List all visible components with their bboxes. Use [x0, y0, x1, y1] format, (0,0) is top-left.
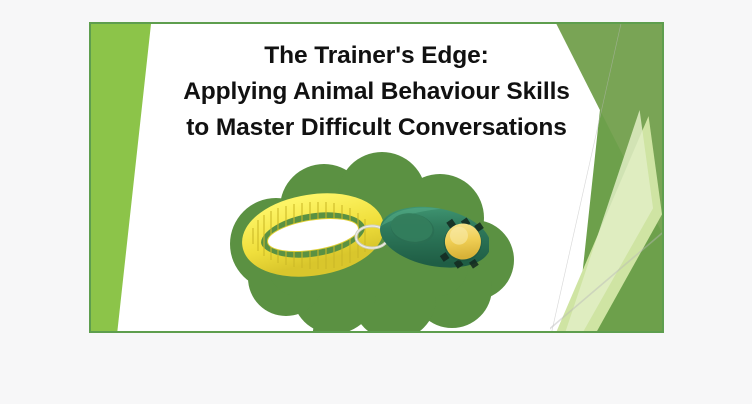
right-hairline-diagonal-lower-decoration	[550, 190, 662, 331]
screenshot-canvas: The Trainer's Edge: Applying Animal Beha…	[0, 0, 752, 404]
presentation-slide: The Trainer's Edge: Applying Animal Beha…	[89, 22, 664, 333]
slide-title-line-3: to Master Difficult Conversations	[91, 110, 662, 146]
dog-training-clicker-artwork	[239, 188, 489, 288]
yellow-coil-wristband	[247, 195, 379, 276]
slide-title-line-1: The Trainer's Edge:	[91, 38, 662, 74]
clicker-body	[375, 198, 489, 276]
slide-title-line-2: Applying Animal Behaviour Skills	[91, 74, 662, 110]
slide-title: The Trainer's Edge: Applying Animal Beha…	[91, 38, 662, 146]
